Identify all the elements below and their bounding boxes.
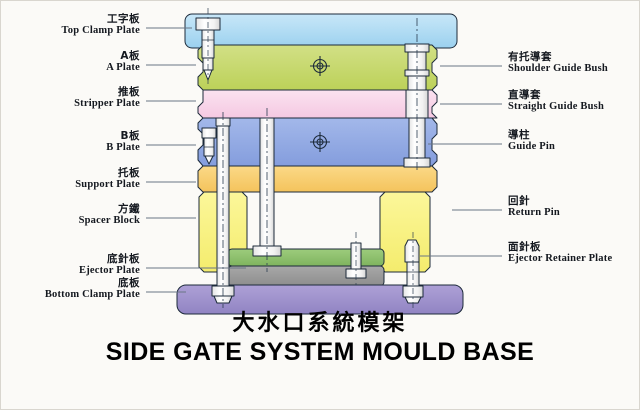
label-b-plate: B板B Plate <box>0 131 140 153</box>
label-b-plate-chinese: B板 <box>0 131 140 142</box>
label-a-plate: A板A Plate <box>0 51 140 73</box>
label-ejector-retainer-plate-english: Ejector Retainer Plate <box>508 253 612 264</box>
label-ejector-plate-english: Ejector Plate <box>0 265 140 276</box>
label-stripper-plate: 推板Stripper Plate <box>0 87 140 109</box>
plate-top-clamp <box>185 14 457 48</box>
label-return-pin: 回針Return Pin <box>508 196 560 218</box>
label-ejector-plate: 底針板Ejector Plate <box>0 254 140 276</box>
label-stripper-plate-english: Stripper Plate <box>0 98 140 109</box>
label-support-plate-english: Support Plate <box>0 179 140 190</box>
label-guide-pin: 導柱Guide Pin <box>508 130 555 152</box>
label-straight-guide-bush-chinese: 直導套 <box>508 90 604 101</box>
label-spacer-block-english: Spacer Block <box>0 215 140 226</box>
label-guide-pin-chinese: 導柱 <box>508 130 555 141</box>
label-shoulder-guide-bush: 有托導套Shoulder Guide Bush <box>508 52 608 74</box>
label-support-plate: 托板Support Plate <box>0 168 140 190</box>
label-support-plate-chinese: 托板 <box>0 168 140 179</box>
label-top-clamp-plate-english: Top Clamp Plate <box>0 25 140 36</box>
label-ejector-retainer-plate: 面針板Ejector Retainer Plate <box>508 242 612 264</box>
label-shoulder-guide-bush-english: Shoulder Guide Bush <box>508 63 608 74</box>
plate-stripper <box>198 90 437 118</box>
label-ejector-plate-chinese: 底針板 <box>0 254 140 265</box>
label-straight-guide-bush: 直導套Straight Guide Bush <box>508 90 604 112</box>
title-chinese: 大水口系統模架 <box>0 312 640 336</box>
title-block: 大水口系統模架 SIDE GATE SYSTEM MOULD BASE <box>0 312 640 366</box>
label-spacer-block: 方鐵Spacer Block <box>0 204 140 226</box>
label-return-pin-chinese: 回針 <box>508 196 560 207</box>
label-shoulder-guide-bush-chinese: 有托導套 <box>508 52 608 63</box>
label-straight-guide-bush-english: Straight Guide Bush <box>508 101 604 112</box>
label-stripper-plate-chinese: 推板 <box>0 87 140 98</box>
label-return-pin-english: Return Pin <box>508 207 560 218</box>
label-b-plate-english: B Plate <box>0 142 140 153</box>
plate-support <box>198 166 437 192</box>
mould-base-diagram: 工字板Top Clamp PlateA板A Plate推板Stripper Pl… <box>0 0 640 410</box>
label-a-plate-english: A Plate <box>0 62 140 73</box>
label-top-clamp-plate-chinese: 工字板 <box>0 14 140 25</box>
label-guide-pin-english: Guide Pin <box>508 141 555 152</box>
label-spacer-block-chinese: 方鐵 <box>0 204 140 215</box>
label-a-plate-chinese: A板 <box>0 51 140 62</box>
label-bottom-clamp-plate-chinese: 底板 <box>0 278 140 289</box>
label-bottom-clamp-plate-english: Bottom Clamp Plate <box>0 289 140 300</box>
label-top-clamp-plate: 工字板Top Clamp Plate <box>0 14 140 36</box>
title-english: SIDE GATE SYSTEM MOULD BASE <box>0 338 640 366</box>
label-ejector-retainer-plate-chinese: 面針板 <box>508 242 612 253</box>
label-bottom-clamp-plate: 底板Bottom Clamp Plate <box>0 278 140 300</box>
